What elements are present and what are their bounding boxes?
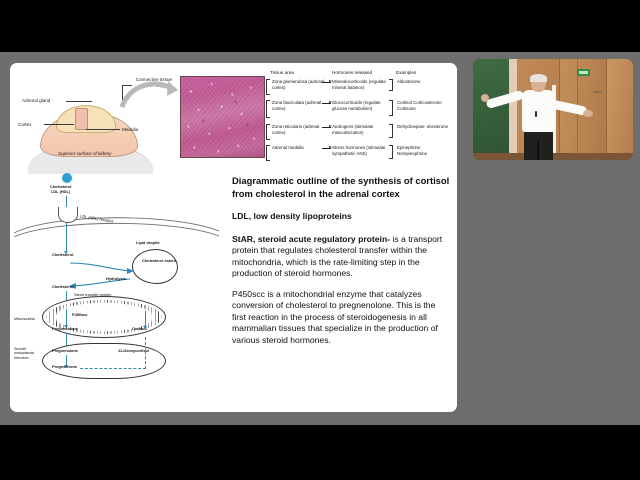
slide-panel: Adrenal gland Cortex Medulla Superior su… (10, 63, 457, 412)
table-header-examples: Examples (396, 70, 416, 75)
cell-hormones: Mineralocorticoids (regulate mineral bal… (332, 79, 390, 90)
label-lipid-droplet: Lipid droplet (136, 241, 160, 246)
leader-line (44, 124, 74, 125)
tissue-area-table: Tissue area Hormones released Examples Z… (266, 70, 452, 165)
cell-examples: Aldosterone (397, 79, 451, 85)
label-cholesterol-free: Cholesterol (52, 285, 73, 290)
label-pregnenolone-mito: Pregnenolone (52, 327, 78, 332)
slide-text-column: Diagrammatic outline of the synthesis of… (232, 175, 450, 355)
label-cholesterol-cytosol: Cholesterol (52, 253, 73, 258)
adrenal-histology-image (180, 76, 265, 158)
exit-sign-icon (577, 69, 590, 76)
gland-medulla-shape (75, 108, 88, 130)
cell-hormones: Stress hormones (stimulate sympathetic A… (332, 145, 390, 156)
cell-tissue-area: Zona fasciculata (adrenal cortex) (272, 100, 330, 111)
magnify-arrow-icon (118, 77, 180, 111)
label-mitochondria: Mitochondria (14, 317, 35, 321)
cell-tissue-area: Zona reticularis (adrenal cortex) (272, 124, 330, 135)
cell-hormones: Glucocorticoids (regulate glucose metabo… (332, 100, 390, 111)
dashed-path (80, 368, 146, 369)
label-ldl-hdl: LDL (HDL) (51, 190, 70, 195)
label-progesterone: Progesterone (52, 365, 77, 370)
leader-line (86, 129, 120, 130)
dashed-path (145, 337, 146, 369)
leader-line (66, 101, 92, 102)
cell-tissue-area: Zona glomerulosa (adrenal cortex) (272, 79, 330, 90)
cholesterol-particle-icon (62, 173, 72, 183)
door-handle (593, 91, 602, 93)
arrow-p450scc (66, 309, 67, 325)
table-header-hormones: Hormones released (332, 70, 372, 75)
arrow-into-cytosol (66, 223, 67, 251)
star-term: StAR, steroid acute regulatory protein- (232, 234, 390, 244)
presenter-figure (513, 75, 571, 160)
steroidogenesis-pathway-figure: Cholesterol LDL (HDL) LDL (HDL) receptor… (14, 171, 226, 409)
p450scc-description: P450scc is a mitochondrial enzyme that c… (232, 289, 450, 347)
label-p450scc: P450scc (72, 313, 88, 318)
ldl-definition: LDL, low density lipoproteins (232, 211, 450, 223)
label-smooth-er: Smooth endoplasmic reticulum (14, 347, 40, 360)
arrow-to-er (66, 333, 67, 346)
label-adrenal-gland: Adrenal gland (22, 98, 50, 104)
presenter-webcam-video[interactable] (473, 59, 633, 160)
cell-examples: Cortisol Corticosterone Cortisone (397, 100, 451, 111)
plasma-membrane (14, 211, 219, 237)
table-header-tissue-area: Tissue area (270, 70, 294, 75)
cell-hormones: Androgens (stimulate masculinization) (332, 124, 390, 135)
esterification-arrows (68, 259, 136, 289)
label-medulla: Medulla (122, 127, 138, 133)
cell-examples: Dehydroepian- drosterone (397, 124, 451, 130)
label-cortex: Cortex (18, 122, 32, 128)
slide-title: Diagrammatic outline of the synthesis of… (232, 175, 450, 200)
label-cholesterol-esters-1: Cholesterol esters (142, 259, 176, 264)
label-hydrolysis: Hydrolysis (106, 277, 126, 282)
lipid-droplet-shape (132, 249, 178, 284)
ldl-receptor-shape (58, 207, 78, 223)
star-definition: StAR, steroid acute regulatory protein- … (232, 234, 450, 280)
chalkboard (473, 59, 509, 160)
cell-examples: Epinephrine Norepinephrine (397, 145, 451, 156)
label-superior-surface-kidney: Superior surface of kidney (58, 151, 118, 157)
video-player-stage: Adrenal gland Cortex Medulla Superior su… (0, 0, 640, 480)
arrow-cortisol-out (145, 311, 146, 326)
label-pregnenolone-er: Pregnenolone (52, 349, 78, 354)
